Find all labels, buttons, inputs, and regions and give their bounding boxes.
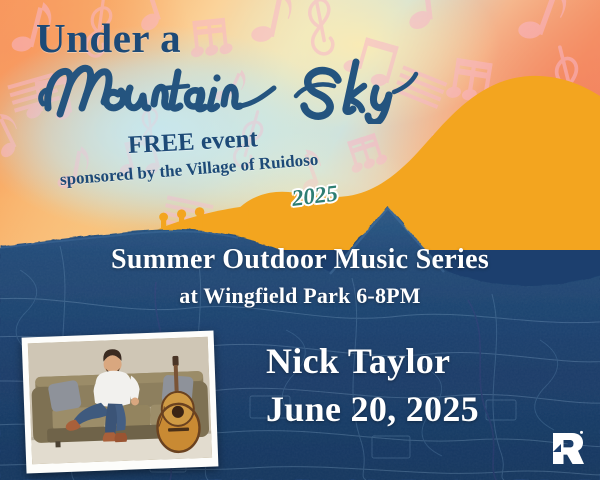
village-of-ruidoso-logo: Village of Ruidoso	[551, 430, 585, 466]
artist-photo: Musician seated on a couch beside an aco…	[28, 337, 212, 465]
event-poster: Under a Mountain Sky	[0, 0, 600, 480]
headline-mountain-sky: Mountain Sky	[38, 52, 468, 124]
venue-time: at Wingfield Park 6-8PM	[0, 283, 600, 309]
year-badge: 2025	[290, 180, 339, 211]
artist-name: Nick Taylor	[266, 340, 450, 382]
series-title: Summer Outdoor Music Series	[0, 244, 600, 276]
event-date: June 20, 2025	[266, 388, 479, 430]
artist-photo-frame: Musician seated on a couch beside an aco…	[22, 331, 219, 474]
